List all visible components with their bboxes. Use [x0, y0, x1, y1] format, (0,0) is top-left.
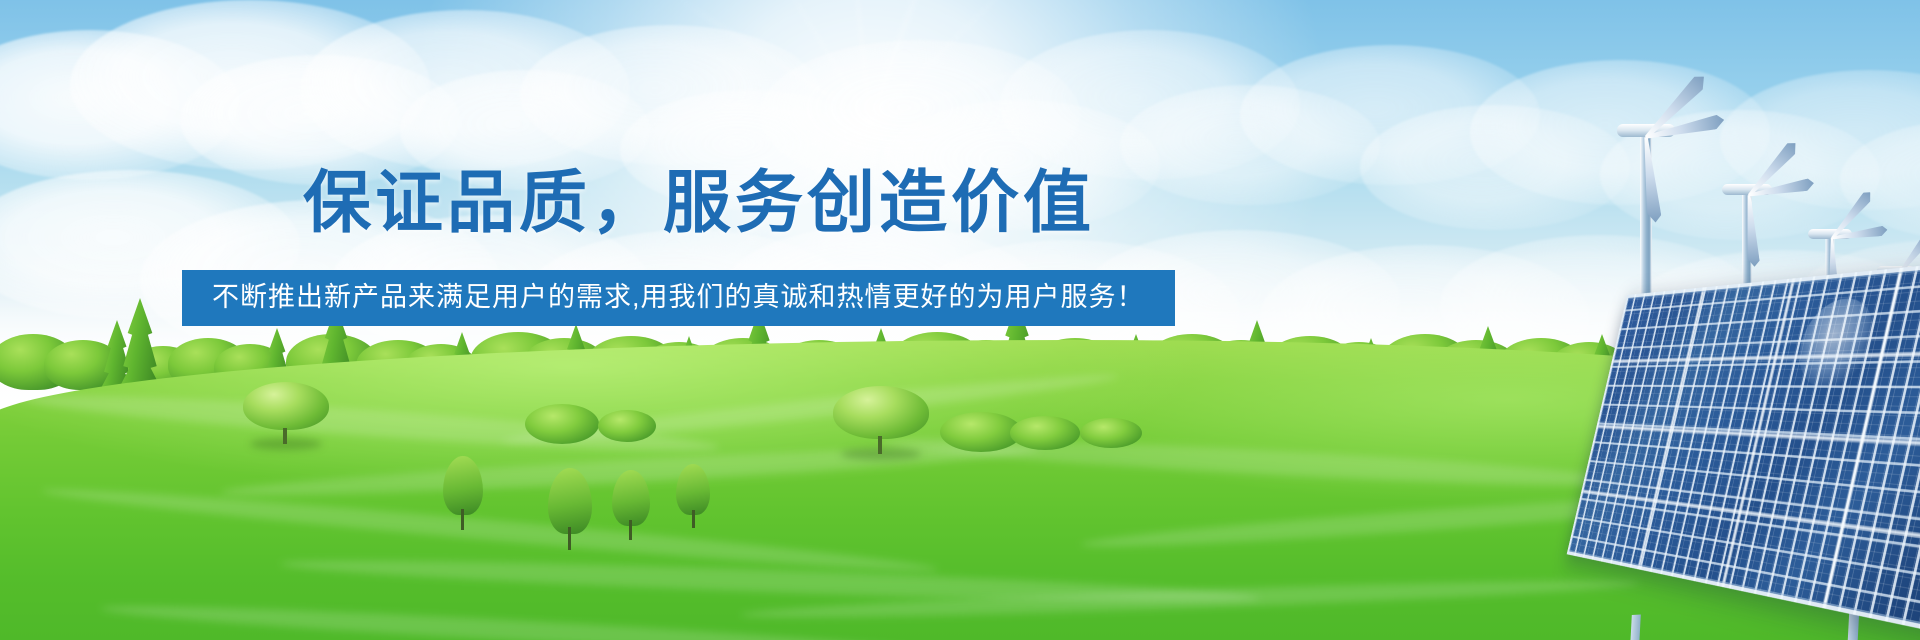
sapling-crown — [612, 470, 650, 526]
solar-panel-installation — [1170, 220, 1920, 640]
sapling-crown — [676, 464, 710, 515]
banner-subtitle-text: 不断推出新产品来满足用户的需求,用我们的真诚和热情更好的为用户服务！ — [212, 283, 1145, 311]
banner-subtitle-bar: 不断推出新产品来满足用户的需求,用我们的真诚和热情更好的为用户服务！ — [182, 270, 1175, 326]
meadow-shrub — [525, 404, 599, 444]
meadow-shrub — [1080, 418, 1142, 448]
meadow-sapling — [443, 456, 483, 530]
solar-support-leg — [1630, 615, 1641, 640]
tree-crown — [243, 382, 329, 430]
sapling-crown — [443, 456, 483, 515]
solar-panel-array — [1567, 252, 1920, 639]
banner-headline: 保证品质，服务创造价值 — [303, 169, 1095, 237]
meadow-tree-right — [833, 386, 929, 454]
tree-trunk — [283, 428, 287, 444]
sapling-trunk — [568, 527, 571, 550]
meadow-sapling — [676, 464, 710, 528]
meadow-sapling — [612, 470, 650, 540]
meadow-sapling — [548, 468, 592, 550]
sapling-trunk — [629, 520, 632, 540]
hero-banner: 保证品质，服务创造价值 不断推出新产品来满足用户的需求,用我们的真诚和热情更好的… — [0, 0, 1920, 640]
sapling-trunk — [461, 509, 464, 530]
meadow-shrub — [1010, 416, 1080, 450]
sapling-trunk — [692, 510, 695, 528]
sapling-crown — [548, 468, 592, 534]
lawn-mow-stripe — [100, 599, 920, 640]
tree-trunk — [878, 436, 882, 454]
meadow-tree-left — [243, 382, 329, 444]
meadow-shrub — [598, 410, 656, 442]
tree-crown — [833, 386, 929, 439]
